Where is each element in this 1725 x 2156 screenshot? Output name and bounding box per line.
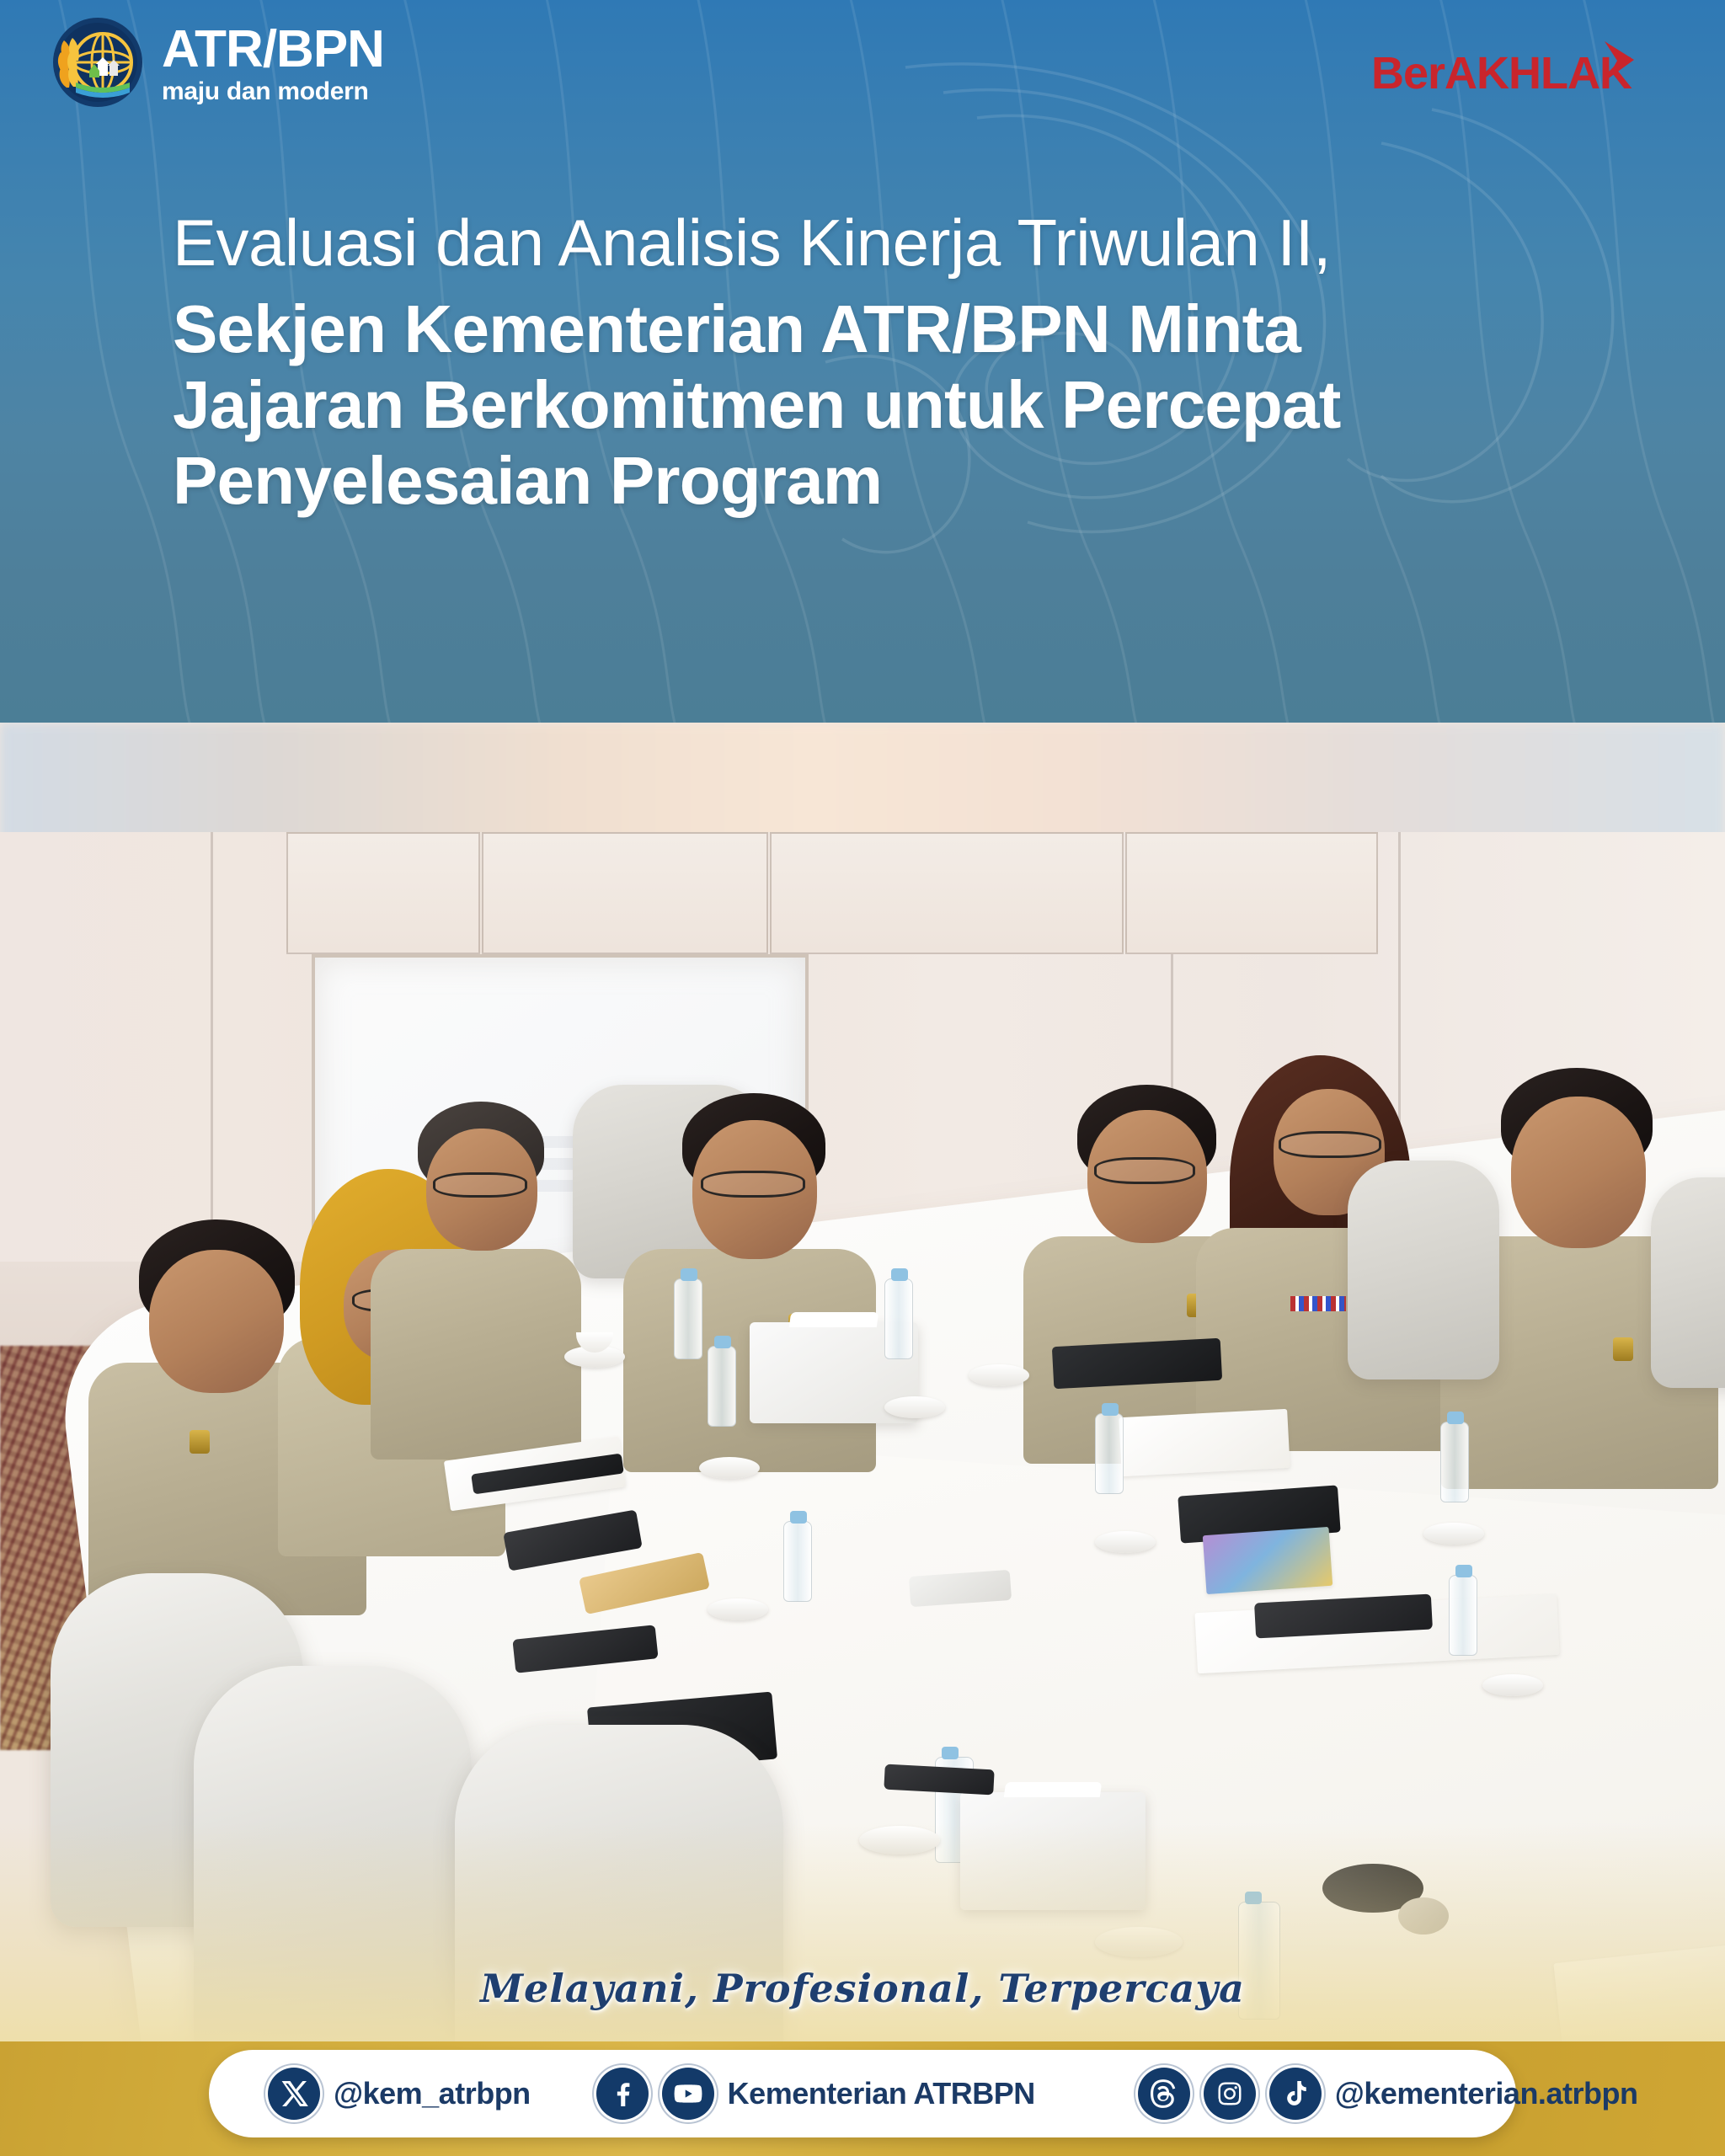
poster-root: ATR/BPN maju dan modern BerAKHLAK Evalua… [0,0,1725,2156]
headline-main: Sekjen Kementerian ATR/BPN Minta Jajaran… [173,291,1621,518]
social-group-threads-instagram-tiktok: @kementerian.atrbpn [1138,2068,1638,2120]
berakhlak-logo-icon: BerAKHLAK [1371,38,1658,105]
social-media-bar: @kem_atrbpn Kementerian ATRBPN [209,2050,1516,2137]
instagram-icon[interactable] [1204,2068,1256,2120]
brand-logo-group: ATR/BPN maju dan modern [51,15,384,109]
meeting-photo [0,723,1725,2041]
tagline-text: Melayani, Profesional, Terpercaya [480,1966,1245,2011]
saucer [1095,1531,1156,1553]
water-bottle [1440,1422,1469,1502]
saucer [699,1457,760,1479]
headline-line-2: Jajaran Berkomitmen untuk Percepat [173,367,1621,443]
ceiling-blur [0,723,1725,849]
tissue-box [960,1792,1146,1910]
wall-cabinet [1125,832,1378,954]
wall-cabinet [286,832,480,954]
social-group-x: @kem_atrbpn [268,2068,531,2120]
chair-back [1348,1161,1499,1380]
water-bottle [708,1346,736,1427]
saucer [708,1598,768,1620]
x-handle[interactable]: @kem_atrbpn [334,2076,531,2111]
x-twitter-icon[interactable] [268,2068,320,2120]
header-band: ATR/BPN maju dan modern BerAKHLAK Evalua… [0,0,1725,723]
saucer [1423,1523,1484,1545]
saucer [859,1826,940,1854]
threads-icon[interactable] [1138,2068,1190,2120]
chair-back [1651,1177,1725,1388]
headline-line-3: Penyelesaian Program [173,443,1621,519]
institution-tagline: Melayani, Profesional, Terpercaya [0,1966,1725,2011]
tiktok-icon[interactable] [1269,2068,1322,2120]
water-bottle [674,1278,702,1359]
svg-text:BerAKHLAK: BerAKHLAK [1371,48,1632,99]
water-bottle [1095,1413,1124,1494]
headline-block: Evaluasi dan Analisis Kinerja Triwulan I… [173,206,1621,518]
attendee-left-3 [371,1102,581,1438]
wall-cabinet [770,832,1124,954]
small-dish [1398,1897,1449,1935]
saucer [884,1396,945,1418]
notebook [1119,1409,1290,1476]
brand-name: ATR/BPN [162,24,384,76]
water-bottle [783,1521,812,1602]
water-bottle [1449,1575,1477,1656]
saucer [1095,1927,1183,1957]
saucer [969,1364,1029,1386]
ribbon-bar [1290,1296,1346,1311]
instagram-handle[interactable]: @kementerian.atrbpn [1335,2076,1638,2111]
brand-tagline: maju dan modern [162,79,384,104]
headline-line-1: Sekjen Kementerian ATR/BPN Minta [173,291,1621,367]
water-bottle [884,1278,913,1359]
social-group-facebook-youtube: Kementerian ATRBPN [596,2068,1035,2120]
saucer [1482,1674,1543,1696]
facebook-youtube-handle[interactable]: Kementerian ATRBPN [728,2076,1035,2111]
booklet [1203,1527,1333,1594]
brand-text-block: ATR/BPN maju dan modern [162,20,384,104]
facebook-icon[interactable] [596,2068,649,2120]
folder [1052,1338,1222,1389]
wall-cabinet [482,832,768,954]
atrbpn-globe-emblem-icon [51,15,145,109]
youtube-icon[interactable] [662,2068,714,2120]
headline-kicker: Evaluasi dan Analisis Kinerja Triwulan I… [173,206,1621,280]
wall-seam [211,832,213,1270]
